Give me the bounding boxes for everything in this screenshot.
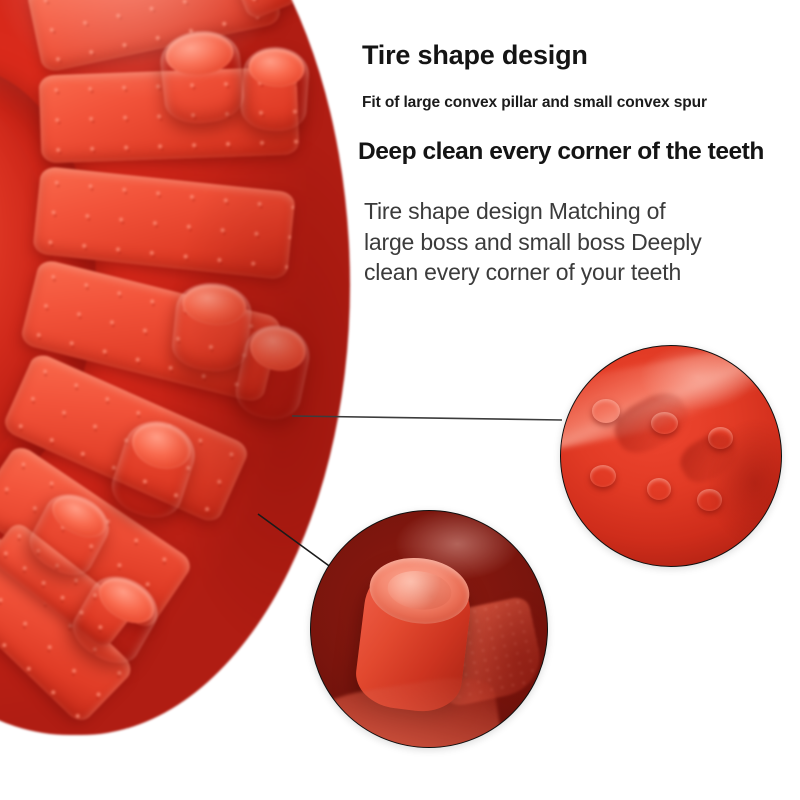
product-photo bbox=[0, 0, 350, 735]
feature-subtitle: Fit of large convex pillar and small con… bbox=[362, 94, 707, 112]
feature-headline-secondary: Deep clean every corner of the teeth bbox=[358, 138, 764, 166]
page-title: Tire shape design bbox=[362, 40, 588, 71]
description-line: Tire shape design Matching of bbox=[364, 196, 756, 227]
convex-pillar bbox=[239, 45, 311, 133]
product-feature-infographic: Tire shape design Fit of large convex pi… bbox=[0, 0, 800, 800]
description-line: clean every corner of your teeth bbox=[364, 257, 756, 288]
callout-small-convex-spur bbox=[560, 345, 782, 567]
tread-block bbox=[26, 0, 283, 73]
convex-spur bbox=[590, 465, 616, 487]
convex-spur bbox=[647, 478, 671, 500]
pillar-top-face bbox=[366, 552, 473, 629]
description-line: large boss and small boss Deeply bbox=[364, 227, 756, 258]
convex-spur bbox=[708, 427, 732, 449]
feature-description: Tire shape design Matching of large boss… bbox=[364, 196, 756, 288]
convex-spur bbox=[651, 412, 677, 434]
callout-large-convex-pillar bbox=[310, 510, 548, 748]
convex-spur bbox=[697, 489, 721, 511]
convex-spur bbox=[592, 399, 621, 423]
convex-pillar bbox=[157, 27, 246, 127]
